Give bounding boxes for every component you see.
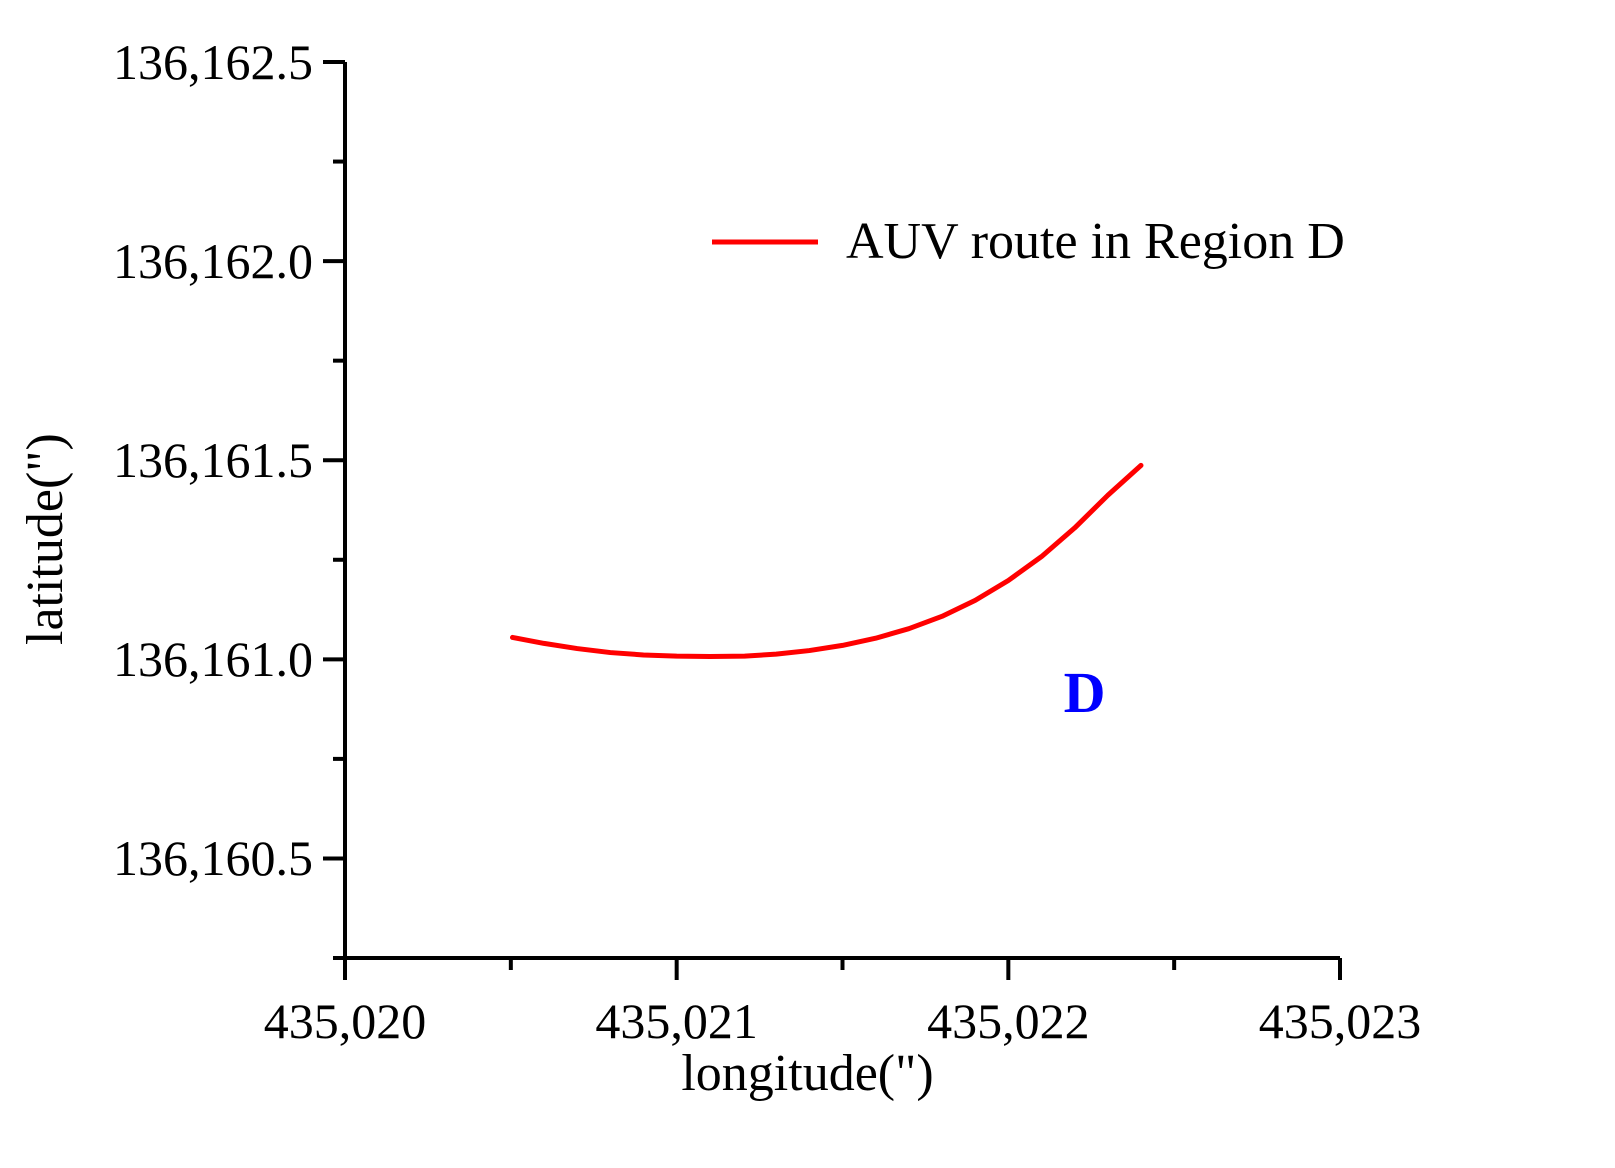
x-tick-label: 435,020 [264,996,427,1046]
x-tick-label: 435,021 [595,996,758,1046]
axis-major-ticks [323,62,1340,980]
x-tick-label: 435,023 [1259,996,1422,1046]
axis-lines [345,62,1340,958]
x-axis-title: longitude(") [681,1048,933,1100]
chart-figure: 136,162.5136,162.0136,161.5136,161.0136,… [0,0,1615,1168]
axis-minor-ticks [333,162,1174,970]
legend-entry-label: AUV route in Region D [846,216,1345,268]
y-tick-label: 136,162.0 [113,236,313,286]
region-d-annotation: D [1064,664,1106,722]
y-tick-label: 136,160.5 [113,833,313,883]
data-series-group [512,465,1141,656]
y-axis-title: latitude(") [20,433,72,645]
y-tick-label: 136,161.5 [113,435,313,485]
y-tick-label: 136,161.0 [113,634,313,684]
x-tick-label: 435,022 [927,996,1090,1046]
y-tick-label: 136,162.5 [113,37,313,87]
